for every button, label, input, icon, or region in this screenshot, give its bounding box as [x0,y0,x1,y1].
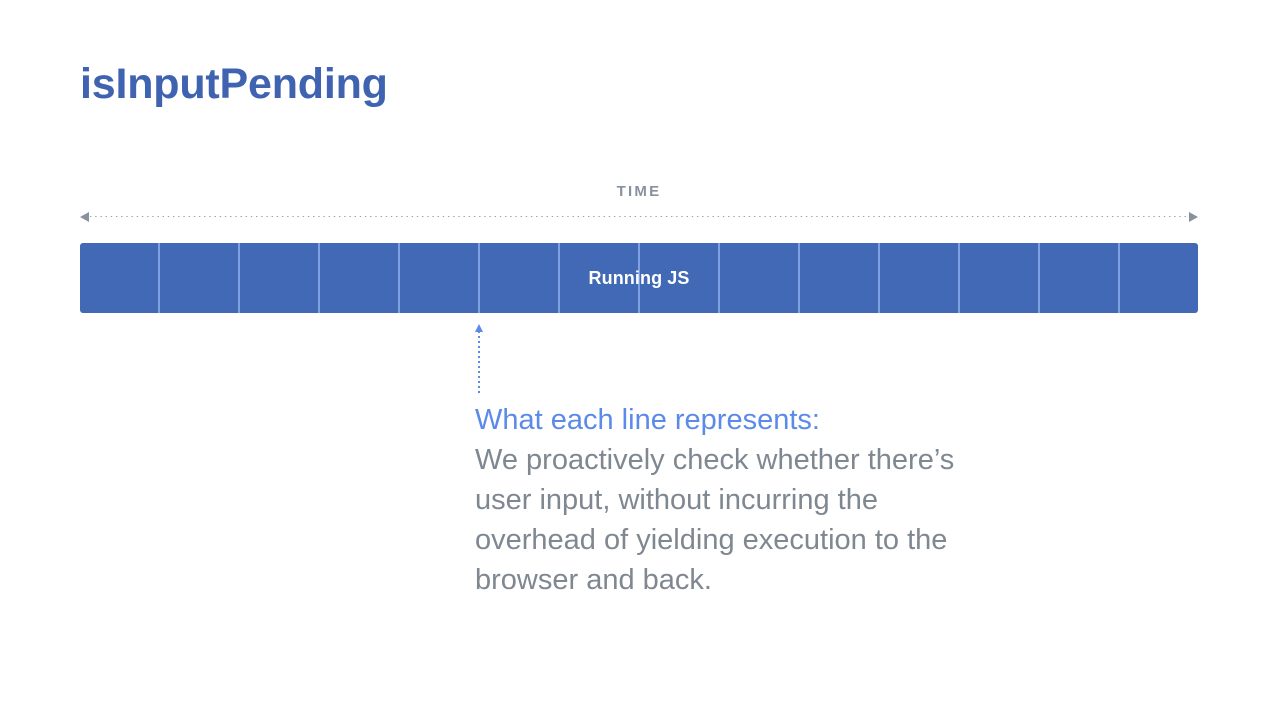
bar-divider [318,243,320,313]
bar-divider [638,243,640,313]
caption-body: We proactively check whether there’s use… [475,440,995,600]
time-axis: TIME [80,183,1198,225]
bar-divider [478,243,480,313]
arrow-left-icon [80,212,89,222]
bar-divider [1118,243,1120,313]
bar-divider [398,243,400,313]
callout-pointer [478,324,481,396]
time-axis-dotted-line [90,216,1188,217]
bar-divider [1038,243,1040,313]
callout-pointer-stem [478,331,480,396]
bar-divider [238,243,240,313]
bar-divider [718,243,720,313]
caption-heading: What each line represents: [475,400,995,440]
bar-divider [958,243,960,313]
arrow-right-icon [1189,212,1198,222]
bar-divider [558,243,560,313]
bar-divider [878,243,880,313]
callout-caption: What each line represents: We proactivel… [475,400,995,600]
time-axis-label: TIME [80,183,1198,200]
bar-divider [158,243,160,313]
time-axis-line [80,212,1198,222]
bar-divider [798,243,800,313]
running-js-bar: Running JS [80,243,1198,313]
page-title: isInputPending [80,60,388,109]
